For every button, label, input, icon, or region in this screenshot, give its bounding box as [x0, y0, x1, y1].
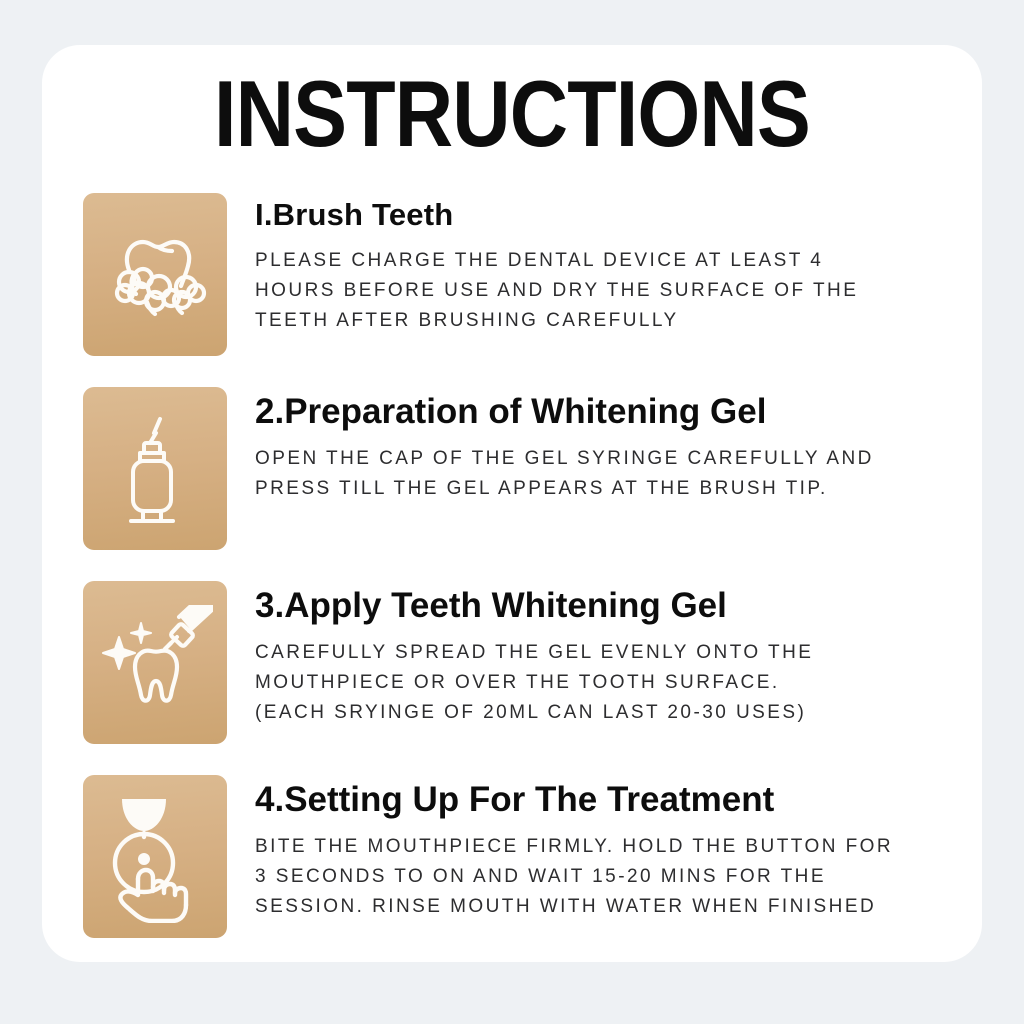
- step-icon-tile-2: [83, 387, 227, 550]
- step-body-line: SESSION. RINSE MOUTH WITH WATER WHEN FIN…: [255, 892, 982, 922]
- step-heading-4: 4.Setting Up For The Treatment: [255, 779, 982, 820]
- step-heading-3: 3.Apply Teeth Whitening Gel: [255, 585, 982, 626]
- step-body-line: HOURS BEFORE USE AND DRY THE SURFACE OF …: [255, 276, 982, 306]
- step-body-line: BITE THE MOUTHPIECE FIRMLY. HOLD THE BUT…: [255, 832, 982, 862]
- tooth-brushing-foam-icon: [103, 230, 207, 320]
- instructions-card: INSTRUCTIONS: [42, 45, 982, 962]
- step-body-line: CAREFULLY SPREAD THE GEL EVENLY ONTO THE: [255, 638, 982, 668]
- step-body-line: (EACH SRYINGE OF 20ML CAN LAST 20-30 USE…: [255, 698, 982, 728]
- step-text-3: 3.Apply Teeth Whitening Gel CAREFULLY SP…: [227, 581, 982, 728]
- step-icon-tile-1: [83, 193, 227, 356]
- step-text-2: 2.Preparation of Whitening Gel OPEN THE …: [227, 387, 982, 504]
- step-body-2: OPEN THE CAP OF THE GEL SYRINGE CAREFULL…: [255, 444, 982, 504]
- step-body-line: MOUTHPIECE OR OVER THE TOOTH SURFACE.: [255, 668, 982, 698]
- step-body-line: TEETH AFTER BRUSHING CAREFULLY: [255, 306, 982, 336]
- step-body-1: PLEASE CHARGE THE DENTAL DEVICE AT LEAST…: [255, 246, 982, 336]
- tooth-gel-application-icon: [97, 605, 213, 721]
- steps-list: I.Brush Teeth PLEASE CHARGE THE DENTAL D…: [83, 193, 982, 969]
- step-item-3: 3.Apply Teeth Whitening Gel CAREFULLY SP…: [83, 581, 982, 744]
- mouthpiece-button-press-icon: [100, 791, 210, 923]
- step-body-4: BITE THE MOUTHPIECE FIRMLY. HOLD THE BUT…: [255, 832, 982, 922]
- gel-syringe-icon: [116, 413, 194, 525]
- step-heading-1: I.Brush Teeth: [255, 197, 982, 234]
- step-body-3: CAREFULLY SPREAD THE GEL EVENLY ONTO THE…: [255, 638, 982, 728]
- step-body-line: PLEASE CHARGE THE DENTAL DEVICE AT LEAST…: [255, 246, 982, 276]
- step-item-4: 4.Setting Up For The Treatment BITE THE …: [83, 775, 982, 938]
- step-body-line: PRESS TILL THE GEL APPEARS AT THE BRUSH …: [255, 474, 982, 504]
- step-icon-tile-4: [83, 775, 227, 938]
- step-body-line: OPEN THE CAP OF THE GEL SYRINGE CAREFULL…: [255, 444, 982, 474]
- step-text-1: I.Brush Teeth PLEASE CHARGE THE DENTAL D…: [227, 193, 982, 336]
- page-title: INSTRUCTIONS: [108, 45, 916, 161]
- step-item-1: I.Brush Teeth PLEASE CHARGE THE DENTAL D…: [83, 193, 982, 356]
- step-text-4: 4.Setting Up For The Treatment BITE THE …: [227, 775, 982, 922]
- step-heading-2: 2.Preparation of Whitening Gel: [255, 391, 982, 432]
- step-icon-tile-3: [83, 581, 227, 744]
- step-body-line: 3 SECONDS TO ON AND WAIT 15-20 MINS FOR …: [255, 862, 982, 892]
- step-item-2: 2.Preparation of Whitening Gel OPEN THE …: [83, 387, 982, 550]
